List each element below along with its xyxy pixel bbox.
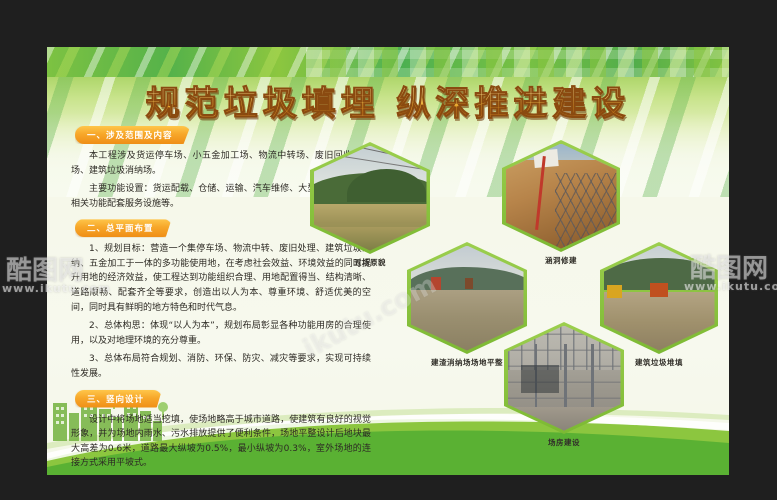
- poster: 规范垃圾填埋 纵深推进建设: [47, 47, 729, 475]
- photo-5-caption: 场房建设: [504, 437, 624, 448]
- section-2-paragraph-2: 2、总体构思：体现“以人为本”，规划布局彰显各种功能用房的合理使用，以及对地理环…: [71, 319, 371, 348]
- photo-1-image: [314, 146, 427, 251]
- photo-1-art: [314, 146, 427, 251]
- photo-5-art: [508, 326, 621, 431]
- section-2-heading: 二、总平面布置: [75, 219, 172, 237]
- photo-5-frame: [504, 322, 624, 434]
- section-3-paragraph-1: 设计中将场地适当挖填，使场地略高于城市道路，使建筑有良好的视觉形象，并为场地内雨…: [71, 413, 371, 471]
- section-3-heading: 三、竖向设计: [75, 390, 162, 408]
- photo-5[interactable]: 场房建设: [504, 322, 624, 434]
- photo-2-art: [506, 144, 617, 249]
- section-2-paragraph-3: 3、总体布局符合规划、消防、环保、防灾、减灾等要求，实现可持续性发展。: [71, 352, 371, 381]
- photo-2[interactable]: 涵洞修建: [502, 140, 620, 252]
- photo-2-image: [506, 144, 617, 249]
- photo-1-frame: [310, 142, 430, 254]
- photo-2-frame: [502, 140, 620, 252]
- photo-1[interactable]: 五场原貌: [310, 142, 430, 254]
- section-3: 三、竖向设计 设计中将场地适当挖填，使场地略高于城市道路，使建筑有良好的视觉形象…: [71, 389, 371, 471]
- banner-mosaic: [306, 47, 729, 77]
- page-title: 规范垃圾填埋 纵深推进建设: [47, 87, 729, 121]
- photo-5-image: [508, 326, 621, 431]
- section-1-heading: 一、涉及范围及内容: [75, 126, 191, 144]
- top-banner: [47, 47, 729, 77]
- screenshot-canvas: 酷图网 www.ikutu.com 酷图网 www.ikutu.com 规范垃圾…: [0, 0, 777, 500]
